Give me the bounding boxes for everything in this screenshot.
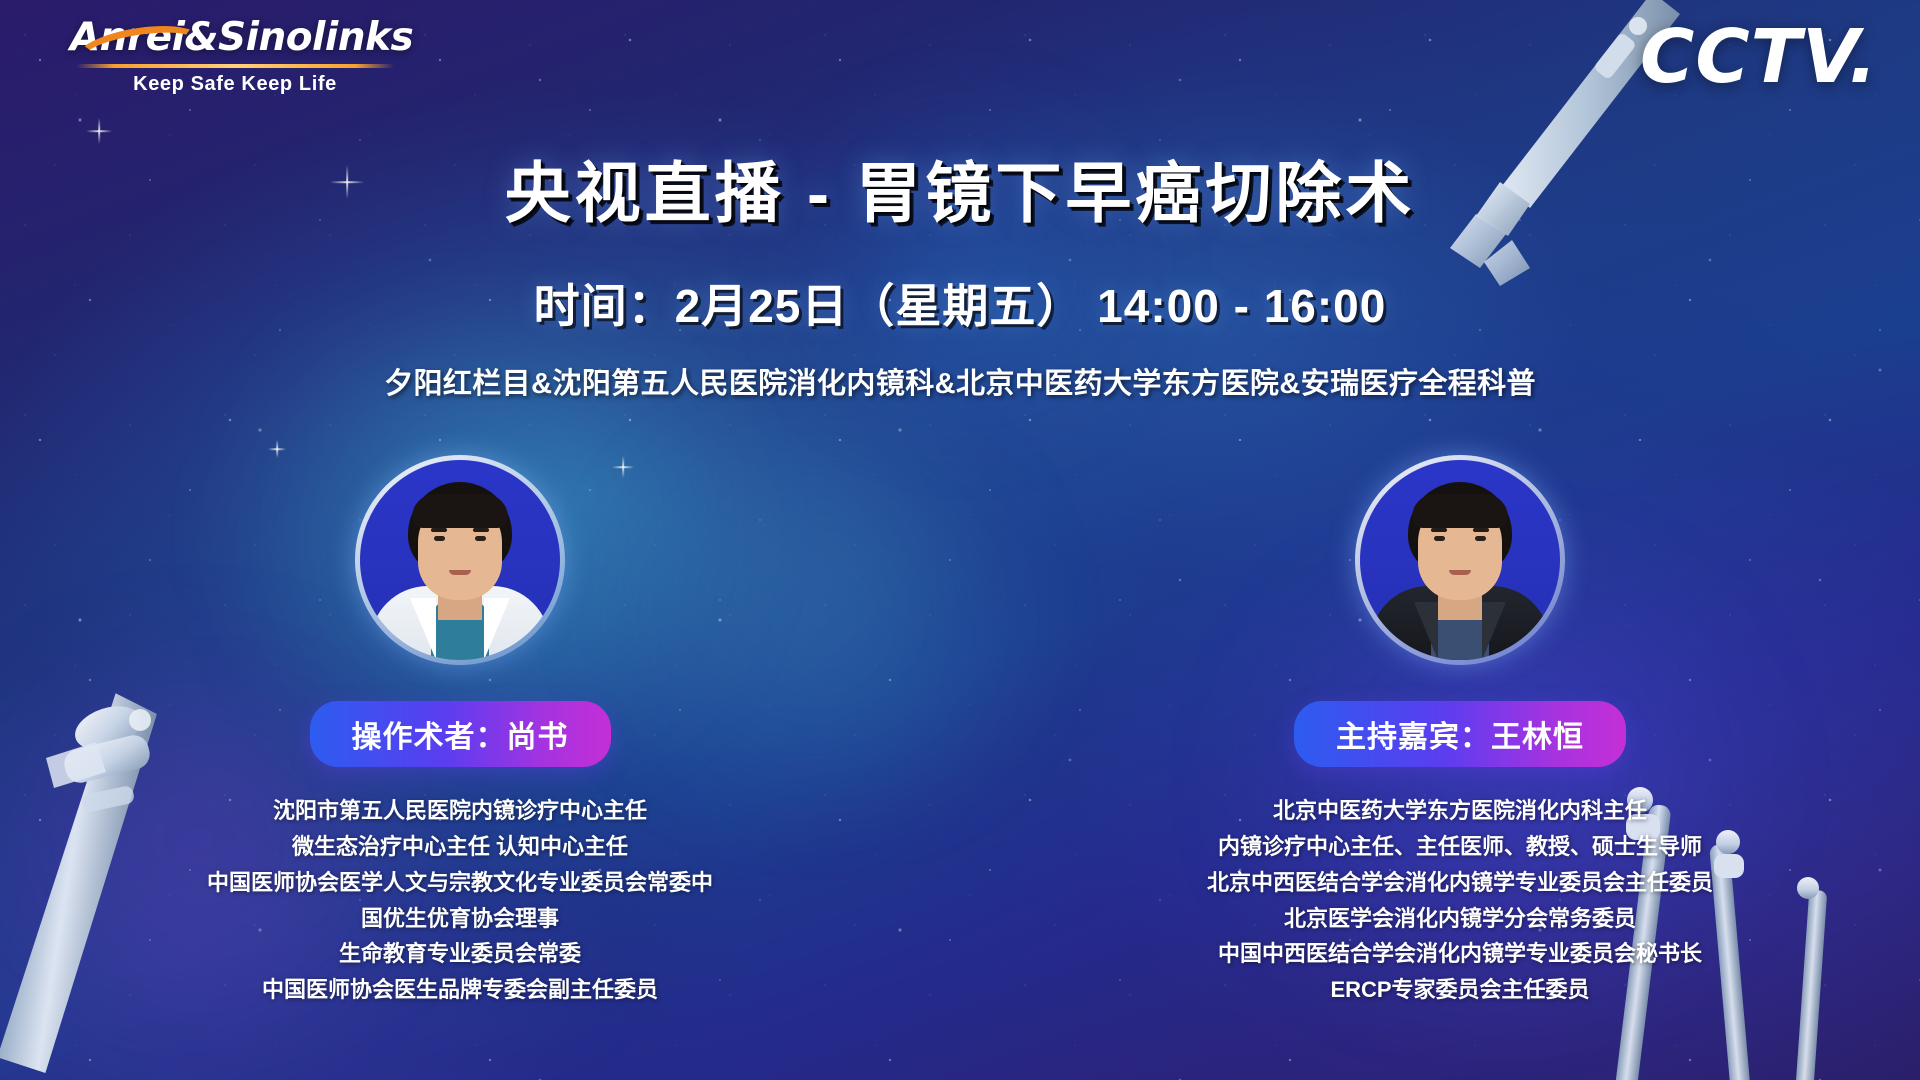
credentials-list-host: 北京中医药大学东方医院消化内科主任 内镜诊疗中心主任、主任医师、教授、硕士生导师…	[1150, 793, 1770, 1008]
presenter-card-operator: 操作术者：尚书 沈阳市第五人民医院内镜诊疗中心主任 微生态治疗中心主任 认知中心…	[150, 455, 770, 1008]
credential-item: 北京中医药大学东方医院消化内科主任	[1150, 793, 1770, 829]
credential-item: 国优生优育协会理事	[150, 901, 770, 937]
poster-canvas: Anrei&Sinolinks Keep Safe Keep Life CCTV…	[0, 0, 1920, 1080]
avatar	[1360, 460, 1560, 660]
presenters-section: 操作术者：尚书 沈阳市第五人民医院内镜诊疗中心主任 微生态治疗中心主任 认知中心…	[0, 455, 1920, 1008]
avatar-brow-right	[1473, 528, 1489, 532]
presenter-card-host: 主持嘉宾：王林恒 北京中医药大学东方医院消化内科主任 内镜诊疗中心主任、主任医师…	[1150, 455, 1770, 1008]
credential-item: 生命教育专业委员会常委	[150, 936, 770, 972]
credential-item: 沈阳市第五人民医院内镜诊疗中心主任	[150, 793, 770, 829]
credential-item: 中国医师协会医学人文与宗教文化专业委员会常委中	[150, 865, 770, 901]
credentials-list-operator: 沈阳市第五人民医院内镜诊疗中心主任 微生态治疗中心主任 认知中心主任 中国医师协…	[150, 793, 770, 1008]
avatar-collar-left	[410, 598, 436, 660]
credential-item: 微生态治疗中心主任 认知中心主任	[150, 829, 770, 865]
avatar-collar-right	[484, 598, 510, 660]
credential-item: ERCP专家委员会主任委员	[1150, 972, 1770, 1008]
avatar-fringe	[1412, 494, 1508, 528]
brand-wordmark-text: Anrei&Sinolinks	[70, 18, 400, 59]
avatar-mouth	[449, 570, 471, 575]
avatar-eye-left	[1434, 536, 1445, 541]
page-title: 央视直播 - 胃镜下早癌切除术	[0, 140, 1920, 236]
brand-logo: Anrei&Sinolinks Keep Safe Keep Life	[70, 18, 400, 96]
avatar-brow-right	[473, 528, 489, 532]
avatar-collar-left	[1414, 602, 1438, 660]
avatar-eye-left	[434, 536, 445, 541]
avatar-ring	[1355, 455, 1565, 665]
credential-item: 北京医学会消化内镜学分会常务委员	[1150, 901, 1770, 937]
avatar-brow-left	[431, 528, 447, 532]
avatar-ring	[355, 455, 565, 665]
credential-item: 中国中西医结合学会消化内镜学专业委员会秘书长	[1150, 936, 1770, 972]
credential-item: 内镜诊疗中心主任、主任医师、教授、硕士生导师	[1150, 829, 1770, 865]
avatar-eye-right	[1475, 536, 1486, 541]
avatar-collar-right	[1482, 602, 1506, 660]
avatar-fringe	[412, 494, 508, 528]
avatar-mouth	[1449, 570, 1471, 575]
event-time: 时间：2月25日（星期五） 14:00 - 16:00	[0, 270, 1920, 336]
brand-tagline: Keep Safe Keep Life	[70, 73, 400, 96]
role-badge-operator: 操作术者：尚书	[310, 701, 611, 767]
event-subtitle: 夕阳红栏目&沈阳第五人民医院消化内镜科&北京中医药大学东方医院&安瑞医疗全程科普	[0, 360, 1920, 402]
credential-item: 北京中西医结合学会消化内镜学专业委员会主任委员	[1150, 865, 1770, 901]
role-badge-host: 主持嘉宾：王林恒	[1294, 701, 1626, 767]
avatar	[360, 460, 560, 660]
avatar-eye-right	[475, 536, 486, 541]
avatar-brow-left	[1431, 528, 1447, 532]
cctv-logo: CCTV.	[1640, 14, 1878, 100]
credential-item: 中国医师协会医生品牌专委会副主任委员	[150, 972, 770, 1008]
